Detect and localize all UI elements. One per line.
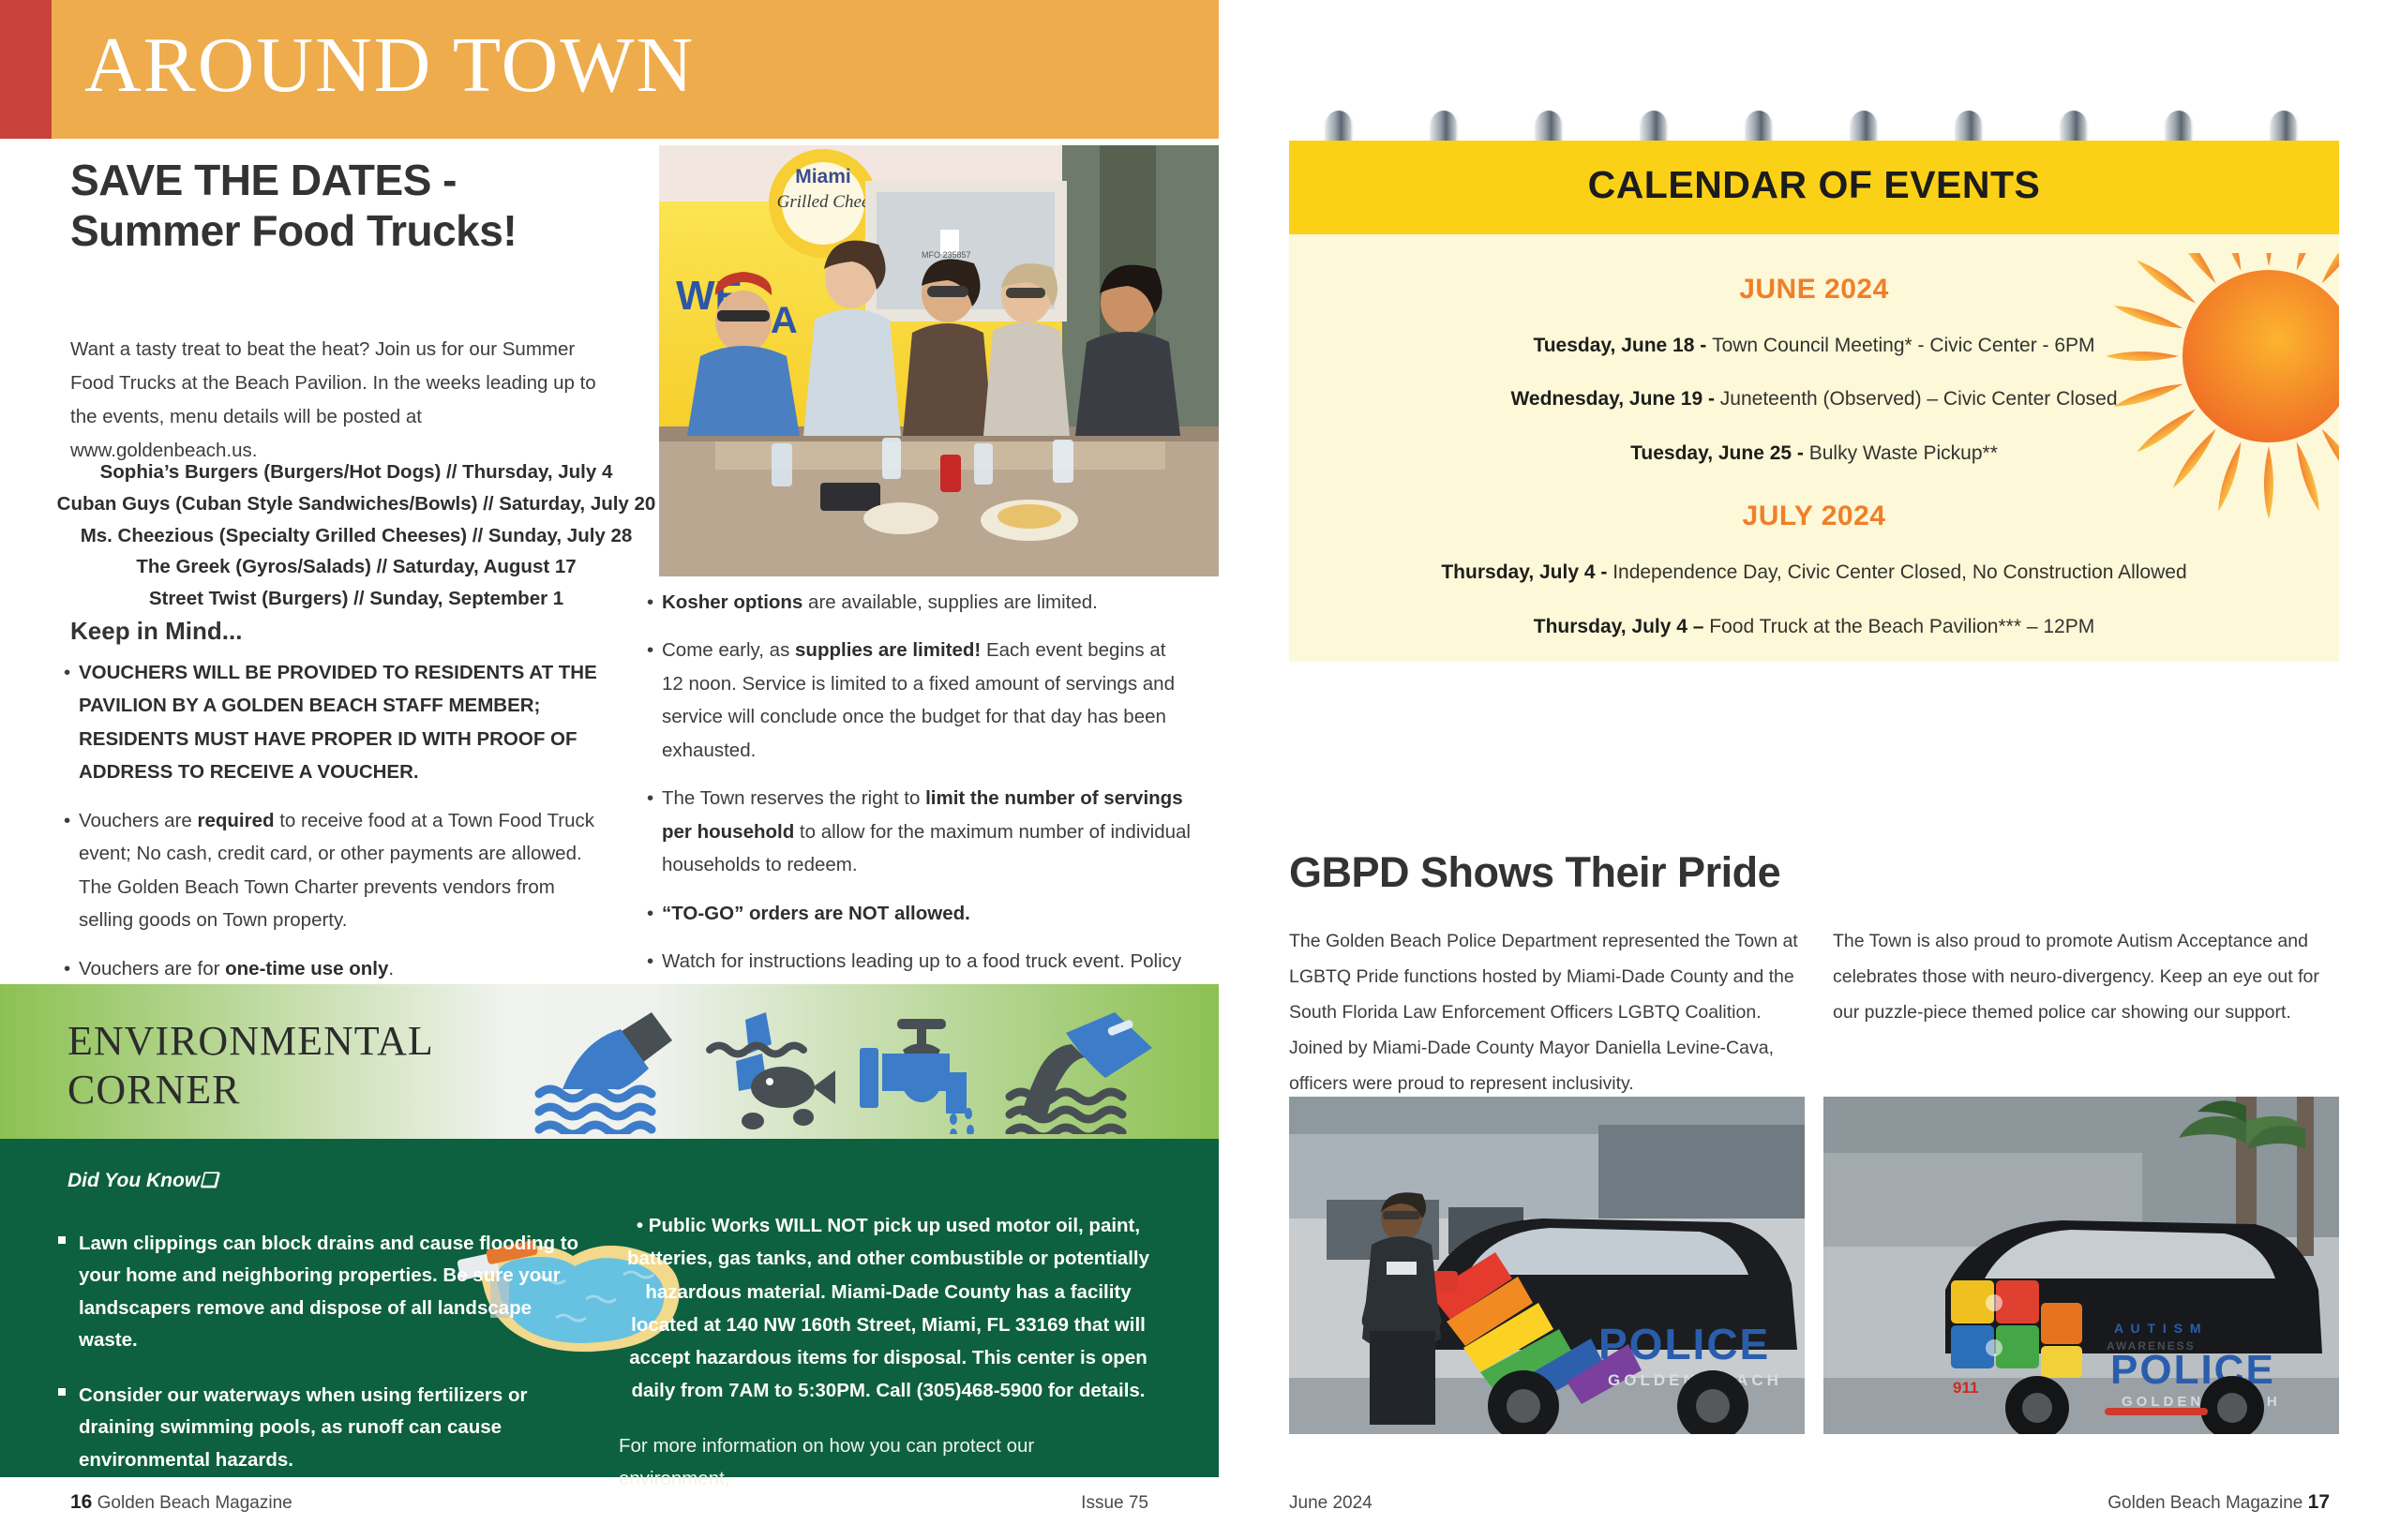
bullet-dot-icon: • [647, 897, 662, 930]
page-right: CALENDAR OF EVENTS [1219, 0, 2400, 1540]
gbpd-photo-rainbow-car-art: POLICE GOLDEN BEACH [1289, 1097, 1805, 1434]
food-truck-photo-art: Miami Grilled Chee MFO 235857 WE CA [659, 145, 1219, 576]
public-works-note-text: • Public Works WILL NOT pick up used mot… [619, 1209, 1158, 1408]
calendar-event-row: Wednesday, June 19 - Juneteenth (Observe… [1289, 385, 2339, 412]
keep-in-mind-bullet: •Vouchers are for one-time use only. [64, 952, 607, 985]
calendar-event-date: Thursday, July 4 – [1534, 616, 1710, 637]
bullet-text: The Town reserves the right to limit the… [662, 782, 1191, 881]
footer-page-number-left: 16 [70, 1491, 92, 1513]
bullet-text: Kosher options are available, supplies a… [662, 586, 1191, 619]
calendar-event-description: Town Council Meeting* - Civic Center - 6… [1712, 335, 2094, 356]
environmental-bullet: Consider our waterways when using fertil… [58, 1380, 583, 1476]
environmental-public-works-note: • Public Works WILL NOT pick up used mot… [619, 1209, 1158, 1408]
footer-magazine-right: Golden Beach Magazine [2107, 1493, 2302, 1513]
svg-text:Grilled Chee: Grilled Chee [777, 192, 870, 212]
calendar-event-date: Wednesday, June 19 - [1510, 388, 1719, 410]
food-truck-photo: Miami Grilled Chee MFO 235857 WE CA [659, 145, 1219, 576]
bullet-text: Vouchers are required to receive food at… [79, 804, 607, 937]
food-truck-schedule-list: Sophia’s Burgers (Burgers/Hot Dogs) // T… [56, 456, 656, 615]
calendar-event-description: Bulky Waste Pickup** [1809, 442, 1998, 464]
gbpd-photo-autism-car-art: A U T I S M AWARENESS POLICE GOLDEN BEAC… [1823, 1097, 2339, 1434]
bottle-in-water-icon [539, 1012, 672, 1134]
calendar-month-heading: JUNE 2024 [1289, 274, 2339, 306]
save-the-dates-title-line1: SAVE THE DATES - [70, 155, 595, 205]
calendar-event-description: Food Truck at the Beach Pavilion*** – 12… [1709, 616, 2094, 637]
bullet-dot-icon: • [64, 656, 79, 789]
keep-in-mind-bullet: •VOUCHERS WILL BE PROVIDED TO RESIDENTS … [64, 656, 607, 789]
faucet-dripping-icon [860, 1019, 974, 1134]
header-red-accent-bar [0, 0, 52, 139]
more-info-lead: For more information on how you can prot… [619, 1429, 1144, 1496]
keep-in-mind-heading: Keep in Mind... [70, 617, 242, 646]
keep-in-mind-bullet: •Come early, as supplies are limited! Ea… [647, 634, 1191, 767]
environmental-bullets: Lawn clippings can block drains and caus… [58, 1228, 583, 1499]
environmental-corner-header: ENVIRONMENTAL CORNER [0, 984, 1219, 1139]
gbpd-photo-autism-car: A U T I S M AWARENESS POLICE GOLDEN BEAC… [1823, 1097, 2339, 1434]
keep-in-mind-bullet: •Vouchers are required to receive food a… [64, 804, 607, 937]
calendar-of-events-card: CALENDAR OF EVENTS [1289, 111, 2339, 662]
calendar-event-date: Thursday, July 4 - [1441, 561, 1612, 583]
footer-issue: Issue 75 [1081, 1493, 1148, 1514]
bullet-dot-icon: • [64, 804, 79, 937]
bullet-text: Vouchers are for one-time use only. [79, 952, 607, 985]
environmental-title-line1: ENVIRONMENTAL [67, 1017, 434, 1066]
bullet-dot-icon: • [647, 586, 662, 619]
gbpd-section-title: GBPD Shows Their Pride [1289, 848, 1780, 897]
svg-text:A U T I S M: A U T I S M [2114, 1321, 2203, 1336]
page-left: AROUND TOWN [0, 0, 1219, 1540]
calendar-body: JUNE 2024Tuesday, June 18 - Town Council… [1289, 234, 2339, 662]
environmental-more-info: For more information on how you can prot… [619, 1429, 1144, 1529]
keep-in-mind-bullet: •The Town reserves the right to limit th… [647, 782, 1191, 881]
svg-text:MFO 235857: MFO 235857 [922, 250, 971, 260]
oil-can-spill-icon [1010, 1012, 1152, 1134]
svg-text:Miami: Miami [795, 166, 851, 187]
svg-text:911: 911 [1953, 1379, 1978, 1397]
footer-magazine-left: Golden Beach Magazine [97, 1493, 292, 1513]
food-truck-schedule-item: Street Twist (Burgers) // Sunday, Septem… [56, 583, 656, 615]
calendar-month-heading: JULY 2024 [1289, 501, 2339, 532]
environmental-bullet-text: Lawn clippings can block drains and caus… [79, 1228, 583, 1357]
environmental-bullet-text: Consider our waterways when using fertil… [79, 1380, 583, 1476]
calendar-event-row: Thursday, July 4 - Independence Day, Civ… [1289, 559, 2339, 586]
footer-date: June 2024 [1289, 1493, 1372, 1514]
bullet-text: “TO-GO” orders are NOT allowed. [662, 897, 1191, 930]
page-title: AROUND TOWN [84, 26, 695, 105]
calendar-header-bar: CALENDAR OF EVENTS [1289, 141, 2339, 234]
bullet-dot-icon: • [64, 952, 79, 985]
save-the-dates-title-line2: Summer Food Trucks! [70, 205, 595, 256]
bullet-text: Come early, as supplies are limited! Eac… [662, 634, 1191, 767]
gbpd-paragraph-right: The Town is also proud to promote Autism… [1833, 923, 2339, 1030]
calendar-event-row: Tuesday, June 18 - Town Council Meeting*… [1289, 332, 2339, 359]
more-info-link[interactable]: visit: www.miamidade.gov/environment. [619, 1502, 984, 1523]
save-the-dates-intro: Want a tasty treat to beat the heat? Joi… [70, 333, 614, 468]
food-truck-schedule-item: Sophia’s Burgers (Burgers/Hot Dogs) // T… [56, 456, 656, 488]
bullet-square-icon [58, 1380, 79, 1476]
environmental-corner-section: ENVIRONMENTAL CORNER [0, 984, 1219, 1453]
calendar-event-date: Tuesday, June 18 - [1533, 335, 1712, 356]
environmental-title-line2: CORNER [67, 1066, 434, 1114]
bullet-dot-icon: • [647, 634, 662, 767]
keep-in-mind-bullet: •Kosher options are available, supplies … [647, 586, 1191, 619]
environmental-bullet: Lawn clippings can block drains and caus… [58, 1228, 583, 1357]
calendar-event-row: Tuesday, June 25 - Bulky Waste Pickup** [1289, 440, 2339, 467]
gbpd-paragraph-left: The Golden Beach Police Department repre… [1289, 923, 1800, 1101]
footer-left: 16 Golden Beach Magazine [70, 1491, 292, 1514]
did-you-know-label: Did You Know❑ [67, 1169, 217, 1192]
environmental-corner-title: ENVIRONMENTAL CORNER [67, 1017, 434, 1114]
calendar-event-row: Thursday, July 4 – Food Truck at the Bea… [1289, 613, 2339, 640]
environmental-corner-body: Did You Know❑ Lawn clippings can block d… [0, 1139, 1219, 1477]
environmental-icons-row [530, 995, 1219, 1134]
keep-in-mind-bullet: •“TO-GO” orders are NOT allowed. [647, 897, 1191, 930]
bullet-dot-icon: • [647, 782, 662, 881]
calendar-event-date: Tuesday, June 25 - [1630, 442, 1809, 464]
food-truck-schedule-item: The Greek (Gyros/Salads) // Saturday, Au… [56, 551, 656, 583]
food-truck-schedule-item: Ms. Cheezious (Specialty Grilled Cheeses… [56, 520, 656, 552]
gbpd-photo-rainbow-car: POLICE GOLDEN BEACH [1289, 1097, 1805, 1434]
bullet-text: VOUCHERS WILL BE PROVIDED TO RESIDENTS A… [79, 656, 607, 789]
magazine-spread: AROUND TOWN [0, 0, 2400, 1540]
svg-text:POLICE: POLICE [1598, 1320, 1770, 1368]
footer-page-number-right: 17 [2308, 1491, 2330, 1513]
footer-right: Golden Beach Magazine 17 [2107, 1491, 2330, 1514]
calendar-event-description: Independence Day, Civic Center Closed, N… [1612, 561, 2186, 583]
bullet-square-icon [58, 1228, 79, 1357]
calendar-header-title: CALENDAR OF EVENTS [1289, 163, 2339, 207]
bottle-fish-pollution-icon [710, 1012, 835, 1129]
food-truck-schedule-item: Cuban Guys (Cuban Style Sandwiches/Bowls… [56, 488, 656, 520]
calendar-event-description: Juneteenth (Observed) – Civic Center Clo… [1720, 388, 2118, 410]
save-the-dates-title: SAVE THE DATES - Summer Food Trucks! [70, 155, 595, 257]
